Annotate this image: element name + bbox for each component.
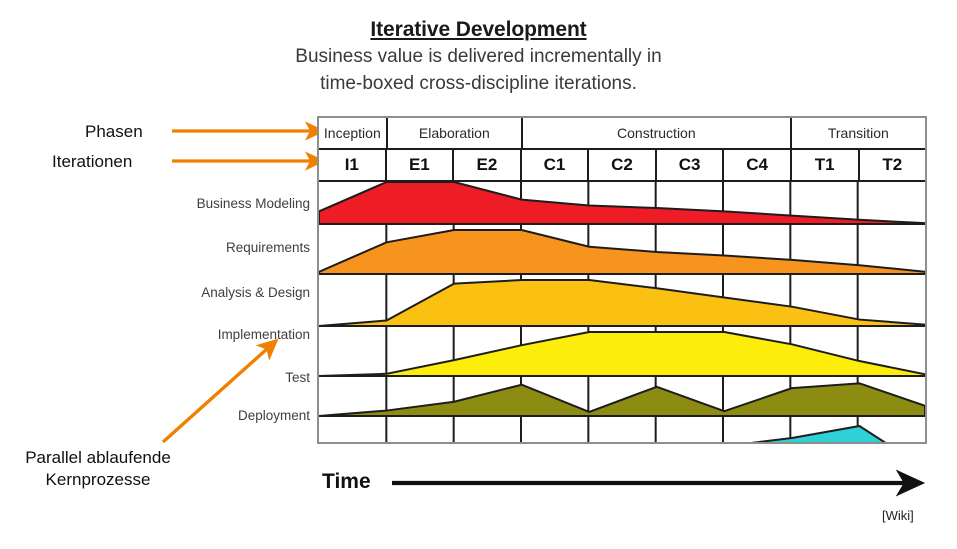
iteration-header-t1: T1 — [792, 150, 860, 180]
plot-area — [319, 182, 925, 442]
iteration-header-t2: T2 — [860, 150, 926, 180]
iteration-header-row: I1E1E2C1C2C3C4T1T2 — [319, 150, 925, 182]
discipline-label-deployment: Deployment — [150, 408, 310, 423]
iteration-header-e1: E1 — [387, 150, 455, 180]
discipline-label-requirements: Requirements — [150, 240, 310, 255]
phase-header-row: InceptionElaborationConstructionTransiti… — [319, 118, 925, 150]
iteration-header-i1: I1 — [319, 150, 387, 180]
effort-band-requirements — [319, 230, 925, 274]
discipline-label-business-modeling: Business Modeling — [150, 196, 310, 211]
effort-band-test — [319, 383, 925, 416]
iteration-header-c4: C4 — [724, 150, 792, 180]
effort-band-business-modeling — [319, 182, 925, 224]
discipline-label-column: Business Modeling Requirements Analysis … — [148, 180, 310, 442]
diagram-root: Iterative Development Business value is … — [0, 0, 957, 549]
iteration-header-e2: E2 — [454, 150, 522, 180]
attribution-label: [Wiki] — [882, 508, 914, 523]
effort-band-analysis-design — [319, 280, 925, 326]
chart-frame: InceptionElaborationConstructionTransiti… — [317, 116, 927, 444]
discipline-label-analysis-design: Analysis & Design — [150, 285, 310, 300]
effort-bands-svg — [319, 182, 925, 442]
phase-header-elaboration: Elaboration — [388, 118, 523, 148]
effort-band-implementation — [319, 332, 925, 376]
phase-header-inception: Inception — [319, 118, 388, 148]
iteration-header-c3: C3 — [657, 150, 725, 180]
effort-band-deployment — [319, 426, 925, 442]
phase-header-construction: Construction — [523, 118, 792, 148]
discipline-label-test: Test — [150, 370, 310, 385]
iteration-header-c2: C2 — [589, 150, 657, 180]
phase-header-transition: Transition — [792, 118, 925, 148]
discipline-label-implementation: Implementation — [150, 327, 310, 342]
time-axis-label: Time — [322, 470, 371, 494]
iteration-header-c1: C1 — [522, 150, 590, 180]
